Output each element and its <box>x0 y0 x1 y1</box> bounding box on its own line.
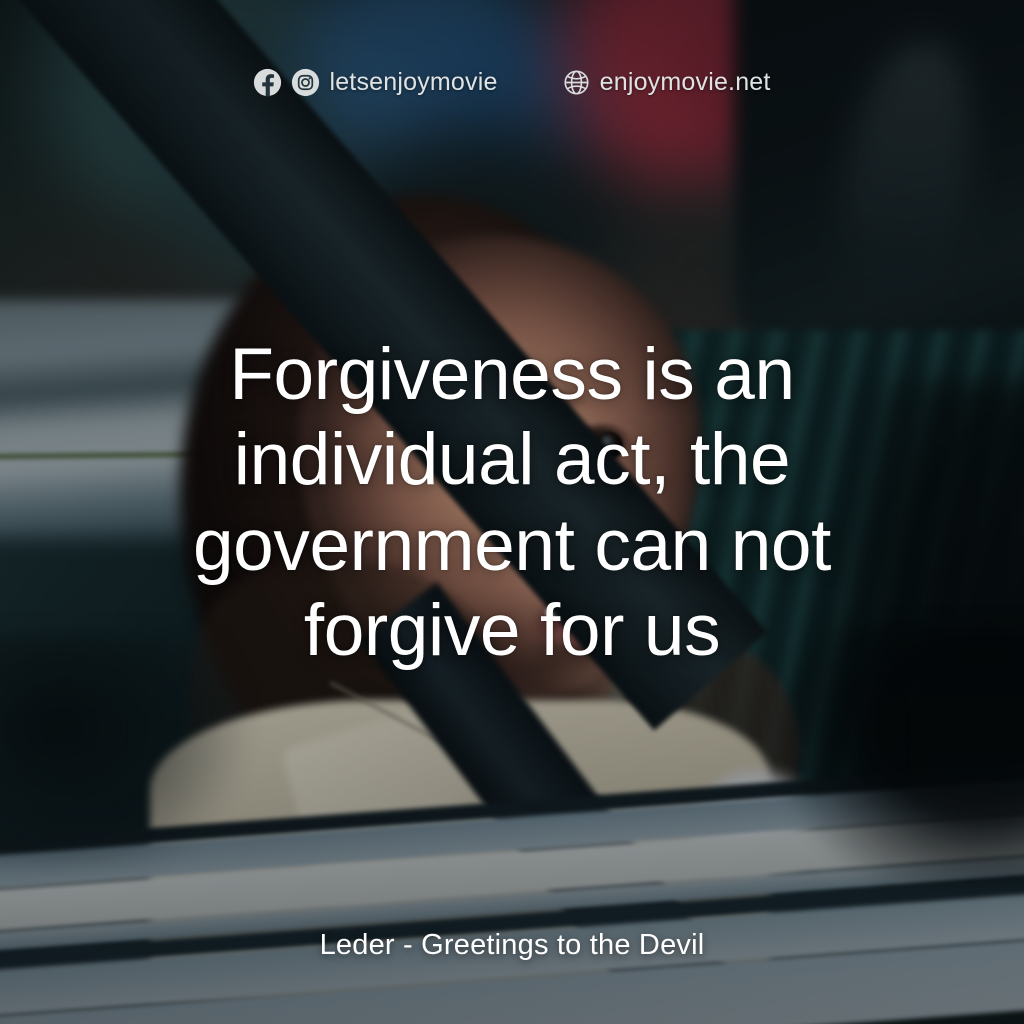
quote-card: letsenjoymovie enjoymovie.net <box>0 0 1024 1024</box>
attribution-caption: Leder - Greetings to the Devil <box>0 929 1024 962</box>
branding-bar: letsenjoymovie enjoymovie.net <box>0 68 1024 97</box>
quote-line-2: individual act, the <box>92 417 932 502</box>
text-overlay: letsenjoymovie enjoymovie.net <box>0 0 1024 1024</box>
instagram-icon[interactable] <box>291 68 320 97</box>
website-group[interactable]: enjoymovie.net <box>562 68 771 97</box>
quote-line-4: forgive for us <box>92 588 932 673</box>
website-url-label: enjoymovie.net <box>600 70 771 95</box>
social-handle-group[interactable]: letsenjoymovie <box>253 68 497 97</box>
quote-line-3: government can not <box>92 503 932 588</box>
social-handle-label: letsenjoymovie <box>329 70 497 95</box>
facebook-icon[interactable] <box>253 68 282 97</box>
quote-text: Forgiveness is an individual act, the go… <box>0 332 1024 674</box>
globe-icon[interactable] <box>562 68 591 97</box>
quote-line-1: Forgiveness is an <box>92 332 932 417</box>
